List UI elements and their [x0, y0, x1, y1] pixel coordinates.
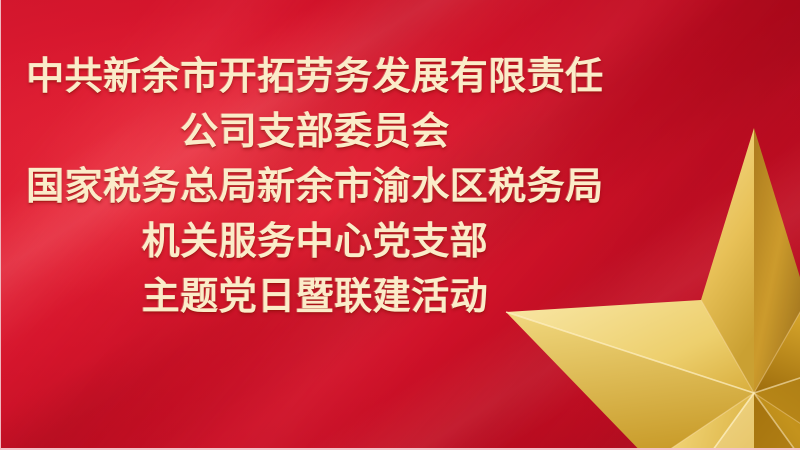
headline-line-1: 中共新余市开拓劳务发展有限责任: [1, 50, 629, 105]
headline-line-3: 国家税务总局新余市渝水区税务局: [1, 160, 629, 215]
headline-line-2: 公司支部委员会: [1, 105, 629, 160]
headline-line-4: 机关服务中心党支部: [1, 215, 629, 270]
headline-block: 中共新余市开拓劳务发展有限责任 公司支部委员会 国家税务总局新余市渝水区税务局 …: [1, 50, 629, 325]
headline-line-5: 主题党日暨联建活动: [1, 270, 629, 325]
poster-canvas: 中共新余市开拓劳务发展有限责任 公司支部委员会 国家税务总局新余市渝水区税务局 …: [0, 0, 800, 450]
